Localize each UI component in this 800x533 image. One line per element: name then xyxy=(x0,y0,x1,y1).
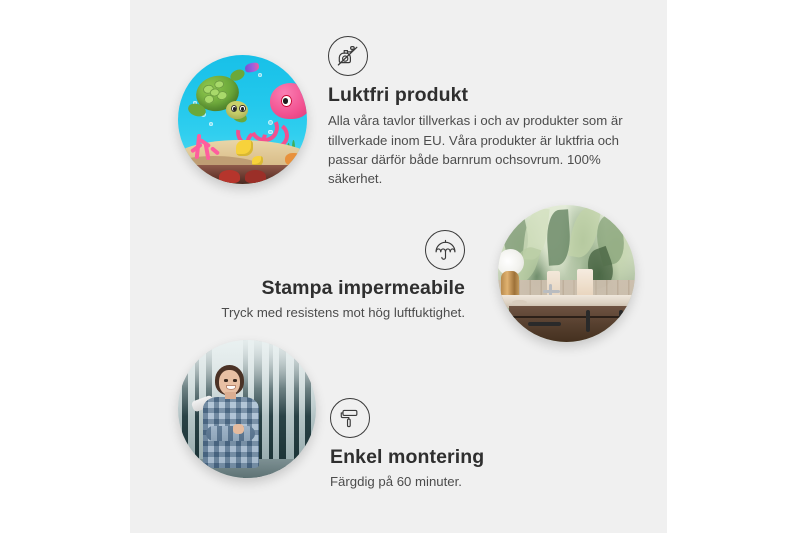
feature-body: Färgdig på 60 minuter. xyxy=(330,472,610,491)
feature-body: Alla våra tavlor tillverkas i och av pro… xyxy=(328,111,628,188)
underwater-artwork xyxy=(178,55,307,184)
feature-block-odourless: Luktfri produkt Alla våra tavlor tillver… xyxy=(328,36,628,188)
feature-block-waterproof: Stampa impermeabile Tryck med resistens … xyxy=(215,230,465,323)
feature-title: Stampa impermeabile xyxy=(215,276,465,300)
painter-forest-artwork xyxy=(178,340,316,478)
umbrella-icon xyxy=(425,230,465,270)
bathroom-artwork xyxy=(498,205,635,342)
icon-wrapper xyxy=(215,230,465,270)
feature-title: Enkel montering xyxy=(330,445,610,469)
no-fragrance-icon xyxy=(328,36,368,76)
screenshot-root: Luktfri produkt Alla våra tavlor tillver… xyxy=(0,0,800,533)
paint-roller-icon xyxy=(330,398,370,438)
product-image-painter-forest-scene xyxy=(178,340,316,478)
feature-body: Tryck med resistens mot hög luftfuktighe… xyxy=(215,303,465,322)
feature-title: Luktfri produkt xyxy=(328,83,628,107)
product-image-bathroom-scene xyxy=(498,205,635,342)
feature-block-easy-mounting: Enkel montering Färgdig på 60 minuter. xyxy=(330,398,610,492)
product-image-underwater-scene xyxy=(178,55,307,184)
